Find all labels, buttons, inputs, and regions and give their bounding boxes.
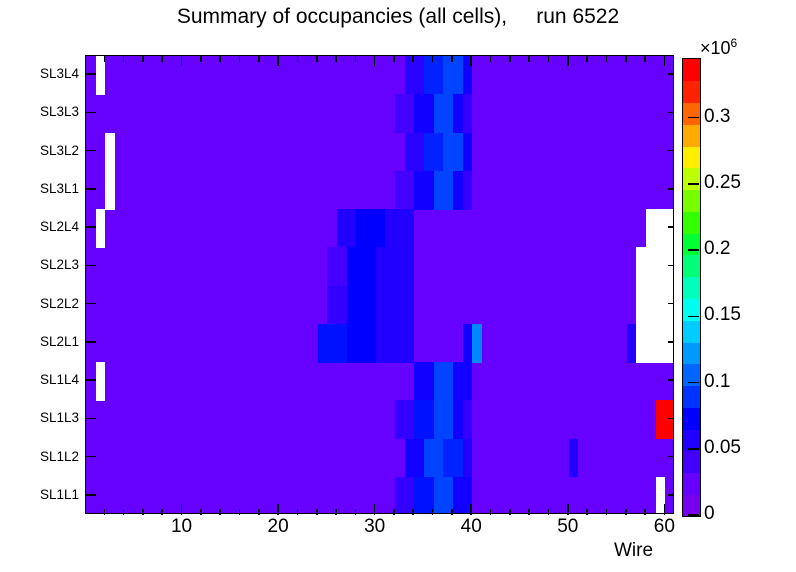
y-axis-tick — [85, 112, 96, 114]
heatmap-cell — [395, 171, 414, 210]
heatmap-cell — [569, 439, 579, 478]
heatmap-cell — [463, 324, 473, 363]
heatmap-cell — [463, 400, 473, 439]
y-axis-tick — [85, 265, 96, 267]
heatmap-cell — [105, 133, 115, 172]
x-axis-tick-minor — [142, 509, 144, 515]
heatmap-cell — [347, 286, 376, 325]
x-axis-tick-minor — [606, 509, 608, 515]
x-axis-tick-top — [374, 56, 376, 66]
heatmap-cell — [434, 477, 453, 514]
y-axis-tick — [85, 379, 96, 381]
heatmap-cell — [347, 324, 376, 363]
colorbar-tick — [688, 117, 699, 119]
y-axis-tick — [85, 303, 96, 305]
root-canvas: Summary of occupancies (all cells), run … — [0, 0, 796, 572]
heatmap-cell — [453, 94, 463, 133]
colorbar-tick — [688, 448, 699, 450]
x-axis-tick-top — [586, 56, 588, 62]
y-axis-label-sl3l2: SL3L2 — [0, 143, 79, 158]
x-axis-tick-major — [664, 504, 666, 515]
heatmap-cell — [405, 439, 424, 478]
y-axis-label-sl2l1: SL2L1 — [0, 334, 79, 349]
y-axis-tick — [85, 456, 96, 458]
x-axis-tick-top — [470, 56, 472, 66]
x-axis-tick-top — [123, 56, 125, 62]
x-axis-tick-top — [219, 56, 221, 62]
x-axis-tick-minor — [219, 509, 221, 515]
x-axis-tick-top — [548, 56, 550, 62]
y-axis-label-sl3l3: SL3L3 — [0, 104, 79, 119]
x-axis-tick-minor — [123, 509, 125, 515]
y-axis-label-sl3l1: SL3L1 — [0, 181, 79, 196]
y-axis-tick-right — [668, 341, 674, 343]
colorbar-tick — [688, 514, 699, 516]
colorbar-label-2: 0.1 — [704, 371, 730, 393]
heatmap-cell — [443, 439, 462, 478]
heatmap-cell — [327, 286, 346, 325]
colorbar-tick — [688, 249, 699, 251]
x-axis-tick-major — [181, 504, 183, 515]
heatmap-cell — [636, 247, 674, 286]
colorbar-band — [683, 211, 700, 233]
colorbar-band — [683, 342, 700, 364]
heatmap-cell — [356, 209, 385, 248]
y-axis-label-sl1l4: SL1L4 — [0, 372, 79, 387]
heatmap-cell — [376, 324, 415, 363]
heatmap-cell — [453, 171, 463, 210]
x-axis-tick-top — [393, 56, 395, 62]
heatmap-cell — [424, 133, 443, 172]
x-axis-tick-minor — [355, 509, 357, 515]
heatmap-cell — [453, 400, 463, 439]
y-axis-tick-right — [668, 188, 674, 190]
x-axis-tick-minor — [586, 509, 588, 515]
x-axis-tick-top — [664, 56, 666, 66]
x-axis-tick-top — [104, 56, 106, 62]
y-axis-tick — [85, 226, 96, 228]
heatmap-cell — [385, 209, 414, 248]
colorbar-band — [683, 59, 700, 81]
y-axis-tick — [85, 341, 96, 343]
x-axis-tick-top — [355, 56, 357, 62]
heatmap-cell — [424, 439, 443, 478]
x-axis-tick-minor — [239, 509, 241, 515]
heatmap-cell — [405, 133, 424, 172]
x-axis-tick-top — [181, 56, 183, 66]
x-axis-tick-top — [316, 56, 318, 62]
heatmap-cells — [86, 56, 673, 513]
y-axis-tick-right — [668, 303, 674, 305]
colorbar-band — [683, 451, 700, 473]
heatmap-cell — [463, 133, 473, 172]
heatmap-cell — [443, 56, 462, 95]
colorbar-band — [683, 168, 700, 190]
y-axis-tick — [85, 494, 96, 496]
heatmap-cell — [347, 247, 376, 286]
heatmap-cell — [463, 94, 473, 133]
x-axis-tick-top — [490, 56, 492, 62]
heatmap-cell — [337, 209, 356, 248]
heatmap-cell — [453, 362, 472, 401]
heatmap-cell — [463, 171, 473, 210]
heatmap-cell — [318, 324, 347, 363]
colorbar-band — [683, 146, 700, 168]
y-axis-tick-right — [668, 150, 674, 152]
y-axis-label-sl3l4: SL3L4 — [0, 66, 79, 81]
x-axis-tick-top — [451, 56, 453, 62]
heatmap-cell — [395, 477, 414, 514]
x-axis-tick-minor — [490, 509, 492, 515]
x-axis-tick-top — [528, 56, 530, 62]
y-axis-tick — [85, 188, 96, 190]
y-axis-label-sl2l4: SL2L4 — [0, 219, 79, 234]
y-axis-tick — [85, 418, 96, 420]
y-axis-tick-right — [668, 379, 674, 381]
x-axis-label-40: 40 — [441, 516, 501, 538]
heatmap-cell — [443, 133, 462, 172]
heatmap-cell — [627, 324, 637, 363]
x-axis-tick-minor — [161, 509, 163, 515]
heatmap-cell — [434, 400, 453, 439]
x-axis-tick-minor — [509, 509, 511, 515]
x-axis-tick-minor — [528, 509, 530, 515]
x-axis-tick-minor — [200, 509, 202, 515]
heatmap-cell — [646, 209, 674, 248]
x-axis-tick-top — [606, 56, 608, 62]
x-axis-tick-minor — [625, 509, 627, 515]
heatmap-cell — [414, 94, 433, 133]
colorbar-band — [683, 407, 700, 429]
heatmap-cell — [376, 286, 415, 325]
x-axis-title: Wire — [614, 540, 653, 562]
y-axis-tick-right — [668, 456, 674, 458]
heatmap-cell — [96, 362, 106, 401]
heatmap-cell — [434, 171, 453, 210]
heatmap-cell — [434, 94, 453, 133]
heatmap-cell — [472, 324, 482, 363]
heatmap-cell — [636, 286, 674, 325]
colorbar-band — [683, 255, 700, 277]
heatmap-cell — [414, 477, 433, 514]
y-axis-label-sl1l3: SL1L3 — [0, 410, 79, 425]
colorbar-band — [683, 233, 700, 255]
colorbar-band — [683, 320, 700, 342]
heatmap-cell — [414, 362, 433, 401]
heatmap-cell — [424, 56, 443, 95]
colorbar-exponent-power: 6 — [731, 36, 738, 50]
x-axis-tick-minor — [335, 509, 337, 515]
x-axis-tick-top — [297, 56, 299, 62]
x-axis-tick-major — [470, 504, 472, 515]
colorbar-label-4: 0.2 — [704, 238, 730, 260]
x-axis-tick-minor — [432, 509, 434, 515]
colorbar-band — [683, 103, 700, 125]
x-axis-label-10: 10 — [152, 516, 212, 538]
x-axis-tick-top — [432, 56, 434, 62]
colorbar-band — [683, 124, 700, 146]
y-axis-label-sl1l2: SL1L2 — [0, 449, 79, 464]
y-axis-tick-right — [668, 73, 674, 75]
x-axis-label-30: 30 — [345, 516, 405, 538]
x-axis-label-50: 50 — [538, 516, 598, 538]
y-axis-tick — [85, 150, 96, 152]
x-axis-tick-top — [161, 56, 163, 62]
heatmap-cell — [453, 477, 472, 514]
x-axis-tick-top — [239, 56, 241, 62]
x-axis-tick-top — [567, 56, 569, 66]
x-axis-tick-top — [644, 56, 646, 62]
x-axis-tick-top — [625, 56, 627, 62]
colorbar-tick — [688, 316, 699, 318]
heatmap-cell — [395, 400, 414, 439]
heatmap-cell — [656, 400, 674, 439]
x-axis-tick-minor — [393, 509, 395, 515]
colorbar-label-3: 0.15 — [704, 304, 741, 326]
y-axis-tick-right — [668, 494, 674, 496]
colorbar-band — [683, 277, 700, 299]
heatmap-cell — [96, 209, 106, 248]
heatmap-cell — [434, 362, 453, 401]
heatmap-cell — [414, 400, 433, 439]
heatmap-cell — [636, 324, 674, 363]
heatmap-cell — [463, 439, 473, 478]
x-axis-tick-top — [258, 56, 260, 62]
page-title: Summary of occupancies (all cells), run … — [0, 5, 796, 29]
y-axis-tick — [85, 73, 96, 75]
colorbar-tick — [688, 382, 699, 384]
colorbar-band — [683, 472, 700, 494]
x-axis-label-20: 20 — [248, 516, 308, 538]
colorbar-label-1: 0.05 — [704, 437, 741, 459]
x-axis-tick-top — [142, 56, 144, 62]
x-axis-tick-top — [335, 56, 337, 62]
x-axis-label-60: 60 — [634, 516, 694, 538]
x-axis-tick-minor — [316, 509, 318, 515]
x-axis-tick-top — [277, 56, 279, 66]
y-axis-tick-right — [668, 112, 674, 114]
colorbar-exponent: ×106 — [700, 36, 737, 59]
colorbar-band — [683, 190, 700, 212]
x-axis-tick-minor — [104, 509, 106, 515]
heatmap-cell — [414, 171, 433, 210]
colorbar-label-5: 0.25 — [704, 172, 741, 194]
x-axis-tick-top — [200, 56, 202, 62]
heatmap-plot-area[interactable] — [85, 55, 674, 514]
y-axis-label-sl2l2: SL2L2 — [0, 296, 79, 311]
colorbar-label-0: 0 — [704, 503, 715, 525]
y-axis-tick-right — [668, 226, 674, 228]
x-axis-tick-major — [567, 504, 569, 515]
x-axis-tick-minor — [644, 509, 646, 515]
y-axis-label-sl1l1: SL1L1 — [0, 487, 79, 502]
y-axis-tick-right — [668, 265, 674, 267]
y-axis-label-sl2l3: SL2L3 — [0, 257, 79, 272]
colorbar-label-6: 0.3 — [704, 106, 730, 128]
heatmap-cell — [405, 56, 424, 95]
x-axis-tick-minor — [451, 509, 453, 515]
colorbar-exponent-base: ×10 — [700, 38, 731, 58]
x-axis-tick-top — [412, 56, 414, 62]
colorbar-band — [683, 298, 700, 320]
y-axis-tick-right — [668, 418, 674, 420]
x-axis-tick-major — [374, 504, 376, 515]
colorbar-tick — [688, 183, 699, 185]
x-axis-tick-minor — [297, 509, 299, 515]
x-axis-tick-minor — [258, 509, 260, 515]
x-axis-tick-minor — [412, 509, 414, 515]
colorbar-band — [683, 385, 700, 407]
heatmap-cell — [395, 94, 414, 133]
heatmap-cell — [105, 171, 115, 210]
x-axis-tick-minor — [548, 509, 550, 515]
x-axis-tick-major — [277, 504, 279, 515]
heatmap-cell — [376, 247, 415, 286]
x-axis-tick-top — [509, 56, 511, 62]
colorbar-band — [683, 81, 700, 103]
heatmap-cell — [327, 247, 346, 286]
